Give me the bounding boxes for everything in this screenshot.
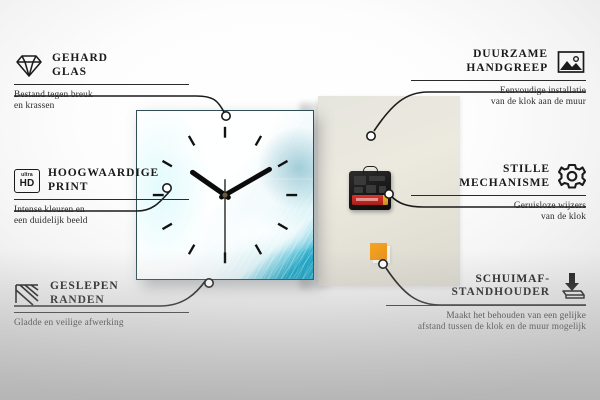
feature-header: STILLE MECHANISME: [411, 163, 586, 190]
feature-header: GEHARD GLAS: [14, 52, 189, 79]
ultra-hd-badge-icon: ultra HD: [14, 169, 40, 193]
feature-schuimafstandhouder: SCHUIMAF- STANDHOUDER Maakt het behouden…: [386, 272, 586, 334]
hour-tick: [256, 245, 261, 254]
feature-title: SCHUIMAF- STANDHOUDER: [451, 273, 550, 300]
clock-center-cap: [222, 192, 227, 197]
feature-header: DUURZAME HANDGREEP: [411, 48, 586, 75]
feature-divider: [386, 305, 586, 306]
feature-hoogwaardige-print: ultra HD HOOGWAARDIGE PRINT Intense kleu…: [14, 167, 189, 228]
mechanism-detail: [366, 185, 376, 193]
hour-tick: [189, 136, 194, 145]
infographic-canvas: GEHARD GLAS Bestand tegen breuk en krass…: [0, 0, 600, 400]
battery-positive-tip: [383, 195, 388, 205]
feature-gehard-glas: GEHARD GLAS Bestand tegen breuk en krass…: [14, 52, 189, 113]
feature-duurzame-handgreep: DUURZAME HANDGREEP Eenvoudige installati…: [411, 48, 586, 109]
hour-tick: [189, 245, 194, 254]
feature-title: HOOGWAARDIGE PRINT: [48, 167, 159, 194]
mechanism-detail: [379, 186, 386, 193]
mechanism-detail: [354, 187, 363, 193]
hour-tick: [278, 224, 287, 229]
aa-battery: [352, 195, 388, 205]
mechanism-detail: [369, 176, 385, 181]
foam-spacer-pad: [370, 243, 387, 260]
gear-icon: [558, 163, 586, 190]
minute-hand: [222, 169, 270, 197]
battery-label: [356, 198, 378, 201]
hour-tick: [163, 161, 172, 166]
feature-stille-mechanisme: STILLE MECHANISME Geruisloze wijzers van…: [411, 163, 586, 224]
feature-header: GESLEPEN RANDEN: [14, 280, 189, 307]
feature-title: STILLE MECHANISME: [459, 163, 550, 190]
hour-tick: [256, 136, 261, 145]
connector-dot-3: [205, 279, 213, 287]
hour-tick: [278, 161, 287, 166]
feature-divider: [14, 312, 189, 313]
feature-title: GEHARD GLAS: [52, 52, 108, 79]
feature-title: GESLEPEN RANDEN: [50, 280, 119, 307]
feature-divider: [411, 80, 586, 81]
feature-header: ultra HD HOOGWAARDIGE PRINT: [14, 167, 189, 194]
feature-title: DUURZAME HANDGREEP: [466, 48, 548, 75]
diamond-icon: [14, 53, 44, 79]
feature-geslepen-randen: GESLEPEN RANDEN Gladde en veilige afwerk…: [14, 280, 189, 329]
feature-divider: [14, 84, 189, 85]
mechanism-hanger-icon: [363, 166, 378, 174]
beveled-edges-icon: [14, 281, 42, 307]
feature-divider: [14, 199, 189, 200]
mechanism-detail: [354, 176, 366, 185]
feature-divider: [411, 195, 586, 196]
spacer-arrow-icon: [558, 272, 586, 300]
clock-mechanism: [349, 171, 391, 210]
picture-frame-icon: [556, 49, 586, 75]
feature-header: SCHUIMAF- STANDHOUDER: [386, 272, 586, 300]
